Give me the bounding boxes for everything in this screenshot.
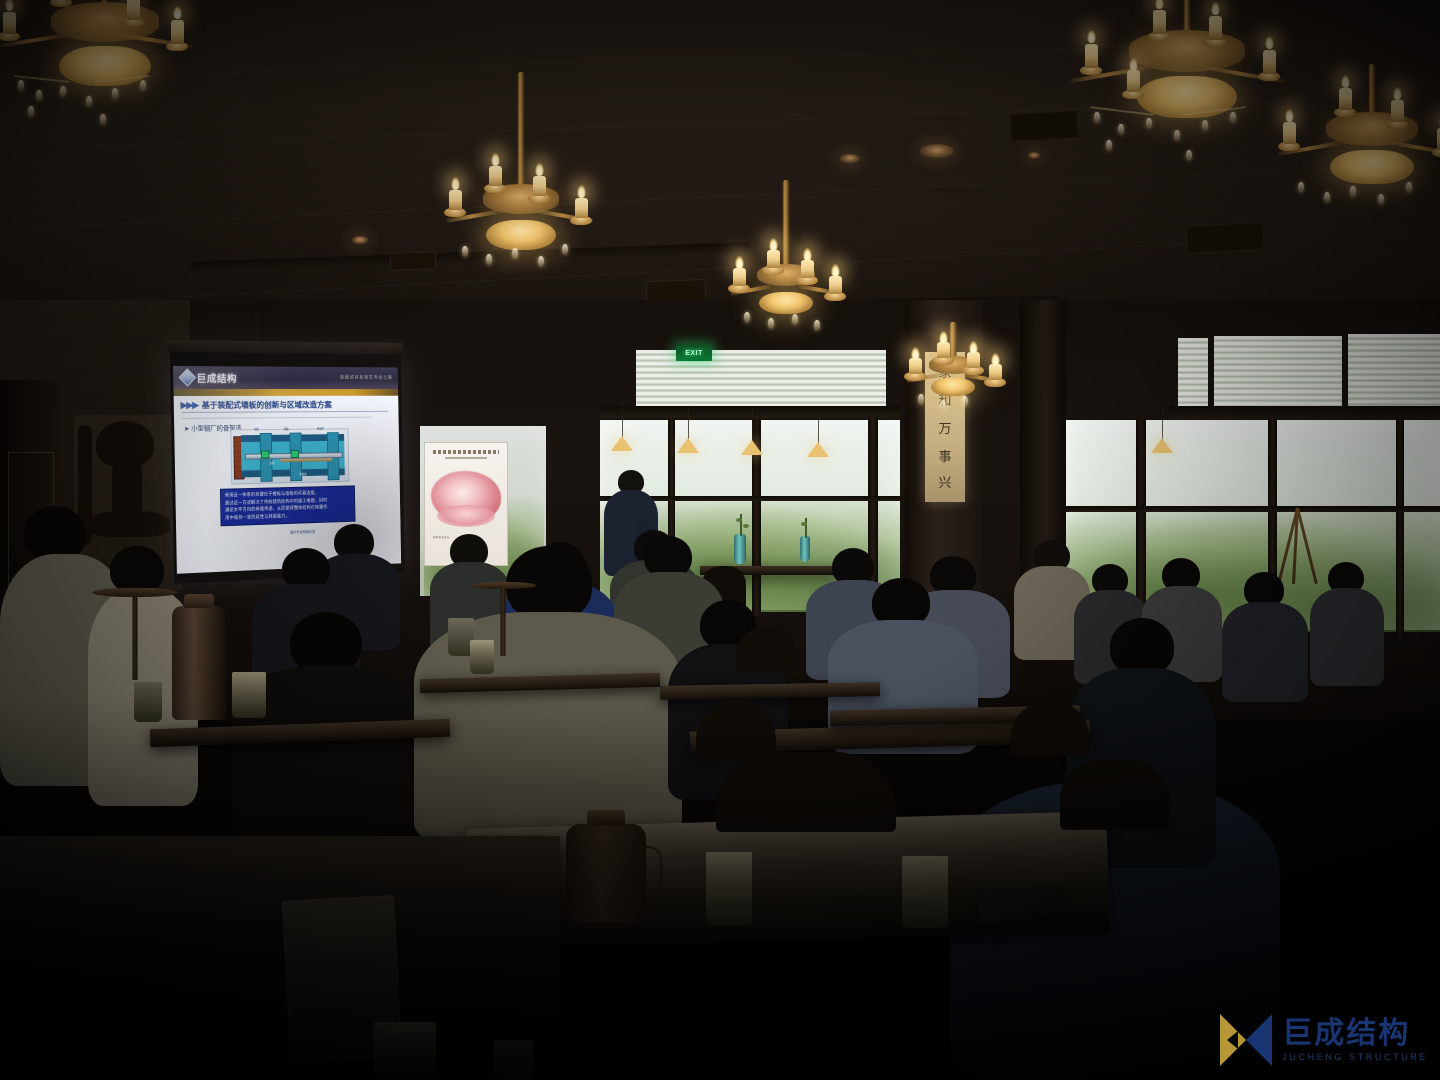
plant-leaf [736, 518, 742, 522]
photo-scene: 家 和 万 事 兴 EXIT 巨成结构 装配式并且现实专业之路 [0, 0, 1440, 1080]
audience-member [1310, 562, 1384, 686]
flower-vase [734, 534, 746, 564]
bar-stool [92, 588, 178, 680]
chair [716, 752, 896, 832]
chair [1060, 760, 1170, 830]
paper-cup [134, 682, 162, 722]
paper-cup [706, 852, 752, 926]
chandelier-left-mid [432, 72, 610, 288]
watermark-chinese-name: 巨成结构 [1282, 1019, 1428, 1049]
audience-member [1222, 572, 1308, 702]
paper-cup [374, 1022, 436, 1080]
chandelier-left-front [0, 0, 220, 184]
jucheng-logo-icon [1220, 1014, 1272, 1066]
chandelier-right-far [1272, 64, 1440, 294]
paper-cup [232, 672, 266, 718]
thermos-flask [172, 606, 226, 720]
paper-cup [902, 856, 948, 928]
plant-sprig [805, 518, 807, 538]
chandelier-center-right [898, 322, 1008, 462]
audience-member-front-center [414, 546, 682, 846]
paper-cup [494, 1040, 534, 1080]
paper-cup [470, 640, 494, 674]
chandelier-center [720, 180, 852, 356]
plant-leaf [801, 522, 807, 526]
plant-leaf [743, 524, 749, 528]
mobile-phone [977, 889, 1065, 923]
teapot [566, 824, 646, 922]
foreground-table-left [0, 836, 560, 1076]
brand-watermark: 巨成结构 JUCHENG STRUCTURE [1220, 1014, 1428, 1066]
watermark-english-name: JUCHENG STRUCTURE [1282, 1053, 1428, 1062]
